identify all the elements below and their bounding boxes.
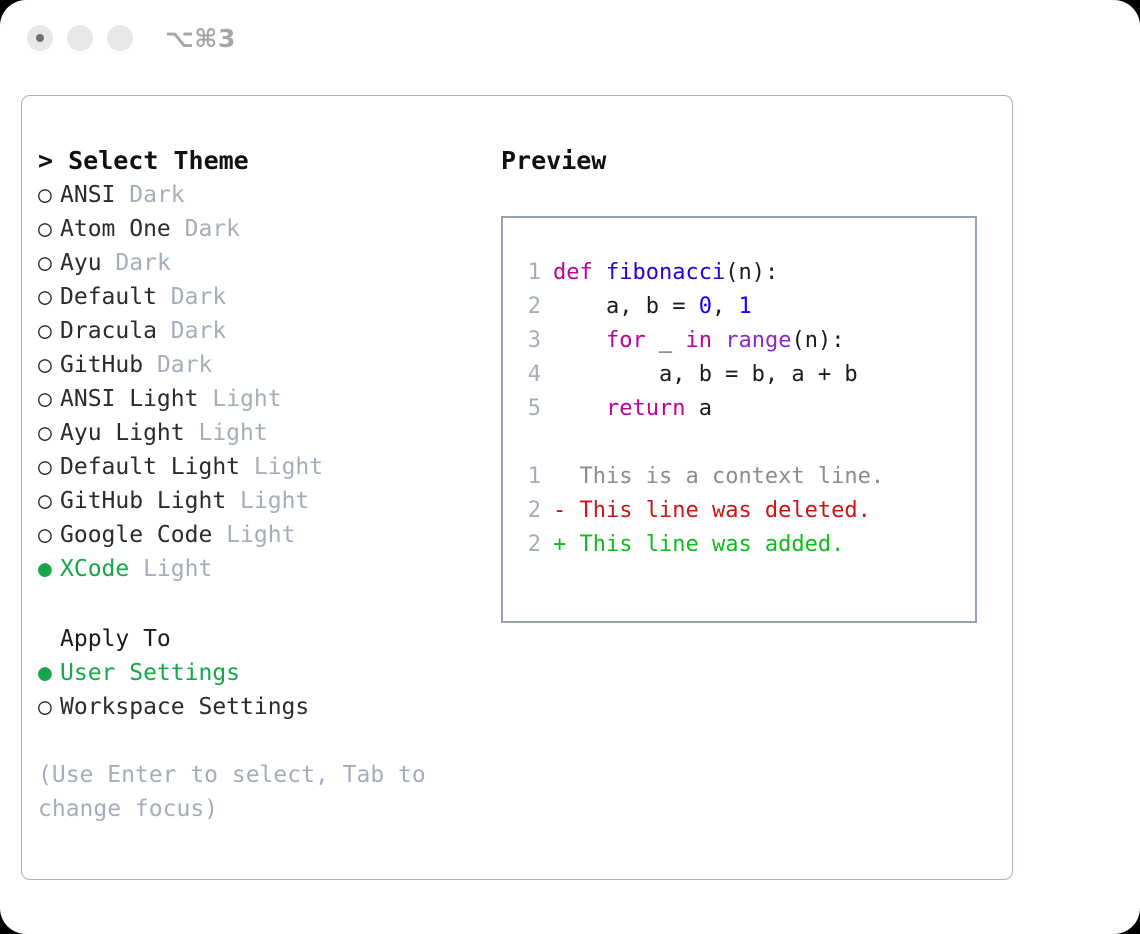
code-token: def xyxy=(553,260,606,285)
theme-list-item[interactable]: ○Default Dark xyxy=(38,280,478,314)
minimize-button-icon[interactable] xyxy=(67,25,93,51)
radio-unselected-icon: ○ xyxy=(38,450,60,484)
theme-variant-badge: Dark xyxy=(171,284,226,310)
theme-name: Dracula xyxy=(60,318,157,344)
radio-unselected-icon: ○ xyxy=(38,348,60,382)
theme-list-item[interactable]: ○Default Light Light xyxy=(38,450,478,484)
theme-name: ANSI Light xyxy=(60,386,198,412)
theme-name: Default xyxy=(60,284,157,310)
code-token: return xyxy=(606,396,685,421)
apply-to-section: Apply To ●User Settings○Workspace Settin… xyxy=(38,622,478,724)
radio-unselected-icon: ○ xyxy=(38,246,60,280)
theme-variant-badge: Light xyxy=(240,488,309,514)
radio-unselected-icon: ○ xyxy=(38,518,60,552)
line-number: 3 xyxy=(519,324,541,358)
theme-name: Google Code xyxy=(60,522,212,548)
apply-to-options: ●User Settings○Workspace Settings xyxy=(38,656,478,724)
code-token: , xyxy=(712,294,739,319)
keyboard-shortcut-label: ⌥⌘3 xyxy=(165,24,236,53)
theme-list-item[interactable]: ○Ayu Dark xyxy=(38,246,478,280)
code-token: _ xyxy=(646,328,686,353)
apply-to-option-label: User Settings xyxy=(60,660,240,686)
line-number: 2 xyxy=(519,494,541,528)
preview-column: Preview 1def fibonacci(n):2 a, b = 0, 13… xyxy=(501,144,991,623)
theme-list-item[interactable]: ○GitHub Light Light xyxy=(38,484,478,518)
diff-marker xyxy=(553,464,580,489)
code-token: 1 xyxy=(738,294,751,319)
theme-list-item[interactable]: ○ANSI Dark xyxy=(38,178,478,212)
radio-unselected-icon: ○ xyxy=(38,280,60,314)
diff-text: This line was added. xyxy=(580,532,845,557)
theme-list: ○ANSI Dark○Atom One Dark○Ayu Dark○Defaul… xyxy=(38,178,478,586)
theme-variant-badge: Dark xyxy=(157,352,212,378)
theme-variant-badge: Light xyxy=(212,386,281,412)
theme-name: Atom One xyxy=(60,216,171,242)
theme-variant-badge: Dark xyxy=(171,318,226,344)
apply-to-option[interactable]: ●User Settings xyxy=(38,656,478,690)
radio-unselected-icon: ○ xyxy=(38,690,60,724)
diff-marker: - xyxy=(553,498,580,523)
preview-heading: Preview xyxy=(501,144,991,178)
diff-sample: 1 This is a context line.2- This line wa… xyxy=(519,460,975,562)
diff-text: This line was deleted. xyxy=(580,498,871,523)
theme-list-item[interactable]: ○ANSI Light Light xyxy=(38,382,478,416)
code-token: a, b = b, a + b xyxy=(553,362,858,387)
code-token xyxy=(712,328,725,353)
code-line: 2 a, b = 0, 1 xyxy=(519,290,975,324)
theme-name: Ayu Light xyxy=(60,420,185,446)
code-spacer xyxy=(519,426,975,460)
line-number: 1 xyxy=(519,256,541,290)
theme-variant-badge: Light xyxy=(143,556,212,582)
code-line: 1def fibonacci(n): xyxy=(519,256,975,290)
theme-variant-badge: Dark xyxy=(185,216,240,242)
diff-line: 2+ This line was added. xyxy=(519,528,975,562)
theme-name: Ayu xyxy=(60,250,102,276)
code-line: 5 return a xyxy=(519,392,975,426)
theme-name: GitHub Light xyxy=(60,488,226,514)
preview-box: 1def fibonacci(n):2 a, b = 0, 13 for _ i… xyxy=(501,216,977,623)
code-line: 3 for _ in range(n): xyxy=(519,324,975,358)
apply-to-option[interactable]: ○Workspace Settings xyxy=(38,690,478,724)
radio-unselected-icon: ○ xyxy=(38,416,60,450)
code-token: (n): xyxy=(725,260,778,285)
radio-unselected-icon: ○ xyxy=(38,314,60,348)
select-theme-heading: > Select Theme xyxy=(38,144,478,178)
radio-unselected-icon: ○ xyxy=(38,382,60,416)
line-number: 5 xyxy=(519,392,541,426)
diff-text: This is a context line. xyxy=(580,464,885,489)
theme-variant-badge: Dark xyxy=(115,250,170,276)
theme-variant-badge: Dark xyxy=(129,182,184,208)
code-sample: 1def fibonacci(n):2 a, b = 0, 13 for _ i… xyxy=(519,256,975,426)
theme-name: GitHub xyxy=(60,352,143,378)
code-token: 0 xyxy=(699,294,712,319)
line-number: 2 xyxy=(519,528,541,562)
help-text: (Use Enter to select, Tab to change focu… xyxy=(38,758,458,826)
theme-variant-badge: Light xyxy=(226,522,295,548)
code-token xyxy=(553,396,606,421)
theme-list-item[interactable]: ●XCode Light xyxy=(38,552,478,586)
line-number: 4 xyxy=(519,358,541,392)
diff-line: 1 This is a context line. xyxy=(519,460,975,494)
theme-name: XCode xyxy=(60,556,129,582)
apply-to-option-label: Workspace Settings xyxy=(60,694,309,720)
theme-list-item[interactable]: ○Ayu Light Light xyxy=(38,416,478,450)
code-token: for xyxy=(606,328,646,353)
theme-list-item[interactable]: ○Google Code Light xyxy=(38,518,478,552)
code-token: in xyxy=(685,328,712,353)
theme-list-item[interactable]: ○Dracula Dark xyxy=(38,314,478,348)
radio-unselected-icon: ○ xyxy=(38,484,60,518)
radio-selected-icon: ● xyxy=(38,552,60,586)
close-button-icon[interactable] xyxy=(27,25,53,51)
diff-line: 2- This line was deleted. xyxy=(519,494,975,528)
theme-name: ANSI xyxy=(60,182,115,208)
code-token: (n): xyxy=(791,328,844,353)
code-token: a xyxy=(685,396,712,421)
theme-variant-badge: Light xyxy=(198,420,267,446)
line-number: 1 xyxy=(519,460,541,494)
theme-list-item[interactable]: ○GitHub Dark xyxy=(38,348,478,382)
theme-variant-badge: Light xyxy=(254,454,323,480)
theme-list-item[interactable]: ○Atom One Dark xyxy=(38,212,478,246)
apply-to-label: Apply To xyxy=(38,622,478,656)
window-controls xyxy=(27,25,133,51)
code-token xyxy=(553,328,606,353)
main-panel: > Select Theme ○ANSI Dark○Atom One Dark○… xyxy=(21,95,1013,880)
code-line: 4 a, b = b, a + b xyxy=(519,358,975,392)
line-number: 2 xyxy=(519,290,541,324)
code-token: a, b = xyxy=(553,294,699,319)
close-dot-icon xyxy=(36,34,44,42)
code-token: fibonacci xyxy=(606,260,725,285)
radio-selected-icon: ● xyxy=(38,656,60,690)
zoom-button-icon[interactable] xyxy=(107,25,133,51)
theme-selection-column: > Select Theme ○ANSI Dark○Atom One Dark○… xyxy=(38,144,478,826)
app-window: ⌥⌘3 > Select Theme ○ANSI Dark○Atom One D… xyxy=(0,0,1140,934)
theme-name: Default Light xyxy=(60,454,240,480)
radio-unselected-icon: ○ xyxy=(38,178,60,212)
code-token: range xyxy=(725,328,791,353)
title-bar: ⌥⌘3 xyxy=(0,0,1140,80)
radio-unselected-icon: ○ xyxy=(38,212,60,246)
diff-marker: + xyxy=(553,532,580,557)
